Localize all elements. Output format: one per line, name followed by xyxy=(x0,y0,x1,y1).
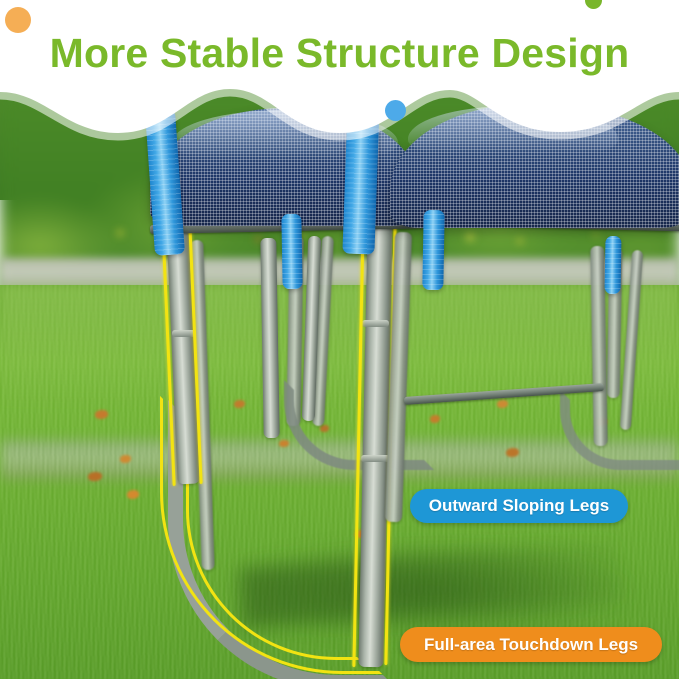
leg-joint-center xyxy=(361,455,390,462)
dry-leaf xyxy=(497,400,508,408)
dry-leaf xyxy=(88,472,102,481)
page-title: More Stable Structure Design xyxy=(0,30,679,77)
callout-outward-sloping-legs: Outward Sloping Legs xyxy=(410,489,628,523)
callout-full-area-touchdown-legs: Full-area Touchdown Legs xyxy=(400,627,662,662)
callout-label: Outward Sloping Legs xyxy=(429,496,609,516)
dry-leaf xyxy=(127,490,139,499)
decor-dot-blue xyxy=(385,100,406,121)
pole-sleeve-texture xyxy=(604,236,621,294)
leg-joint-center-2 xyxy=(362,320,389,327)
pole-sleeve-right-small xyxy=(604,236,621,294)
callout-label: Full-area Touchdown Legs xyxy=(424,635,638,655)
dry-leaf xyxy=(120,455,131,463)
pole-sleeve-texture xyxy=(422,210,444,290)
pole-sleeve-texture xyxy=(281,214,302,289)
pole-sleeve-center-small xyxy=(422,210,444,290)
product-feature-banner: More Stable Structure Design Outward Slo… xyxy=(0,0,679,679)
pole-sleeve-mid-small xyxy=(281,214,302,289)
dry-leaf xyxy=(95,410,108,419)
dry-leaf xyxy=(506,448,519,457)
